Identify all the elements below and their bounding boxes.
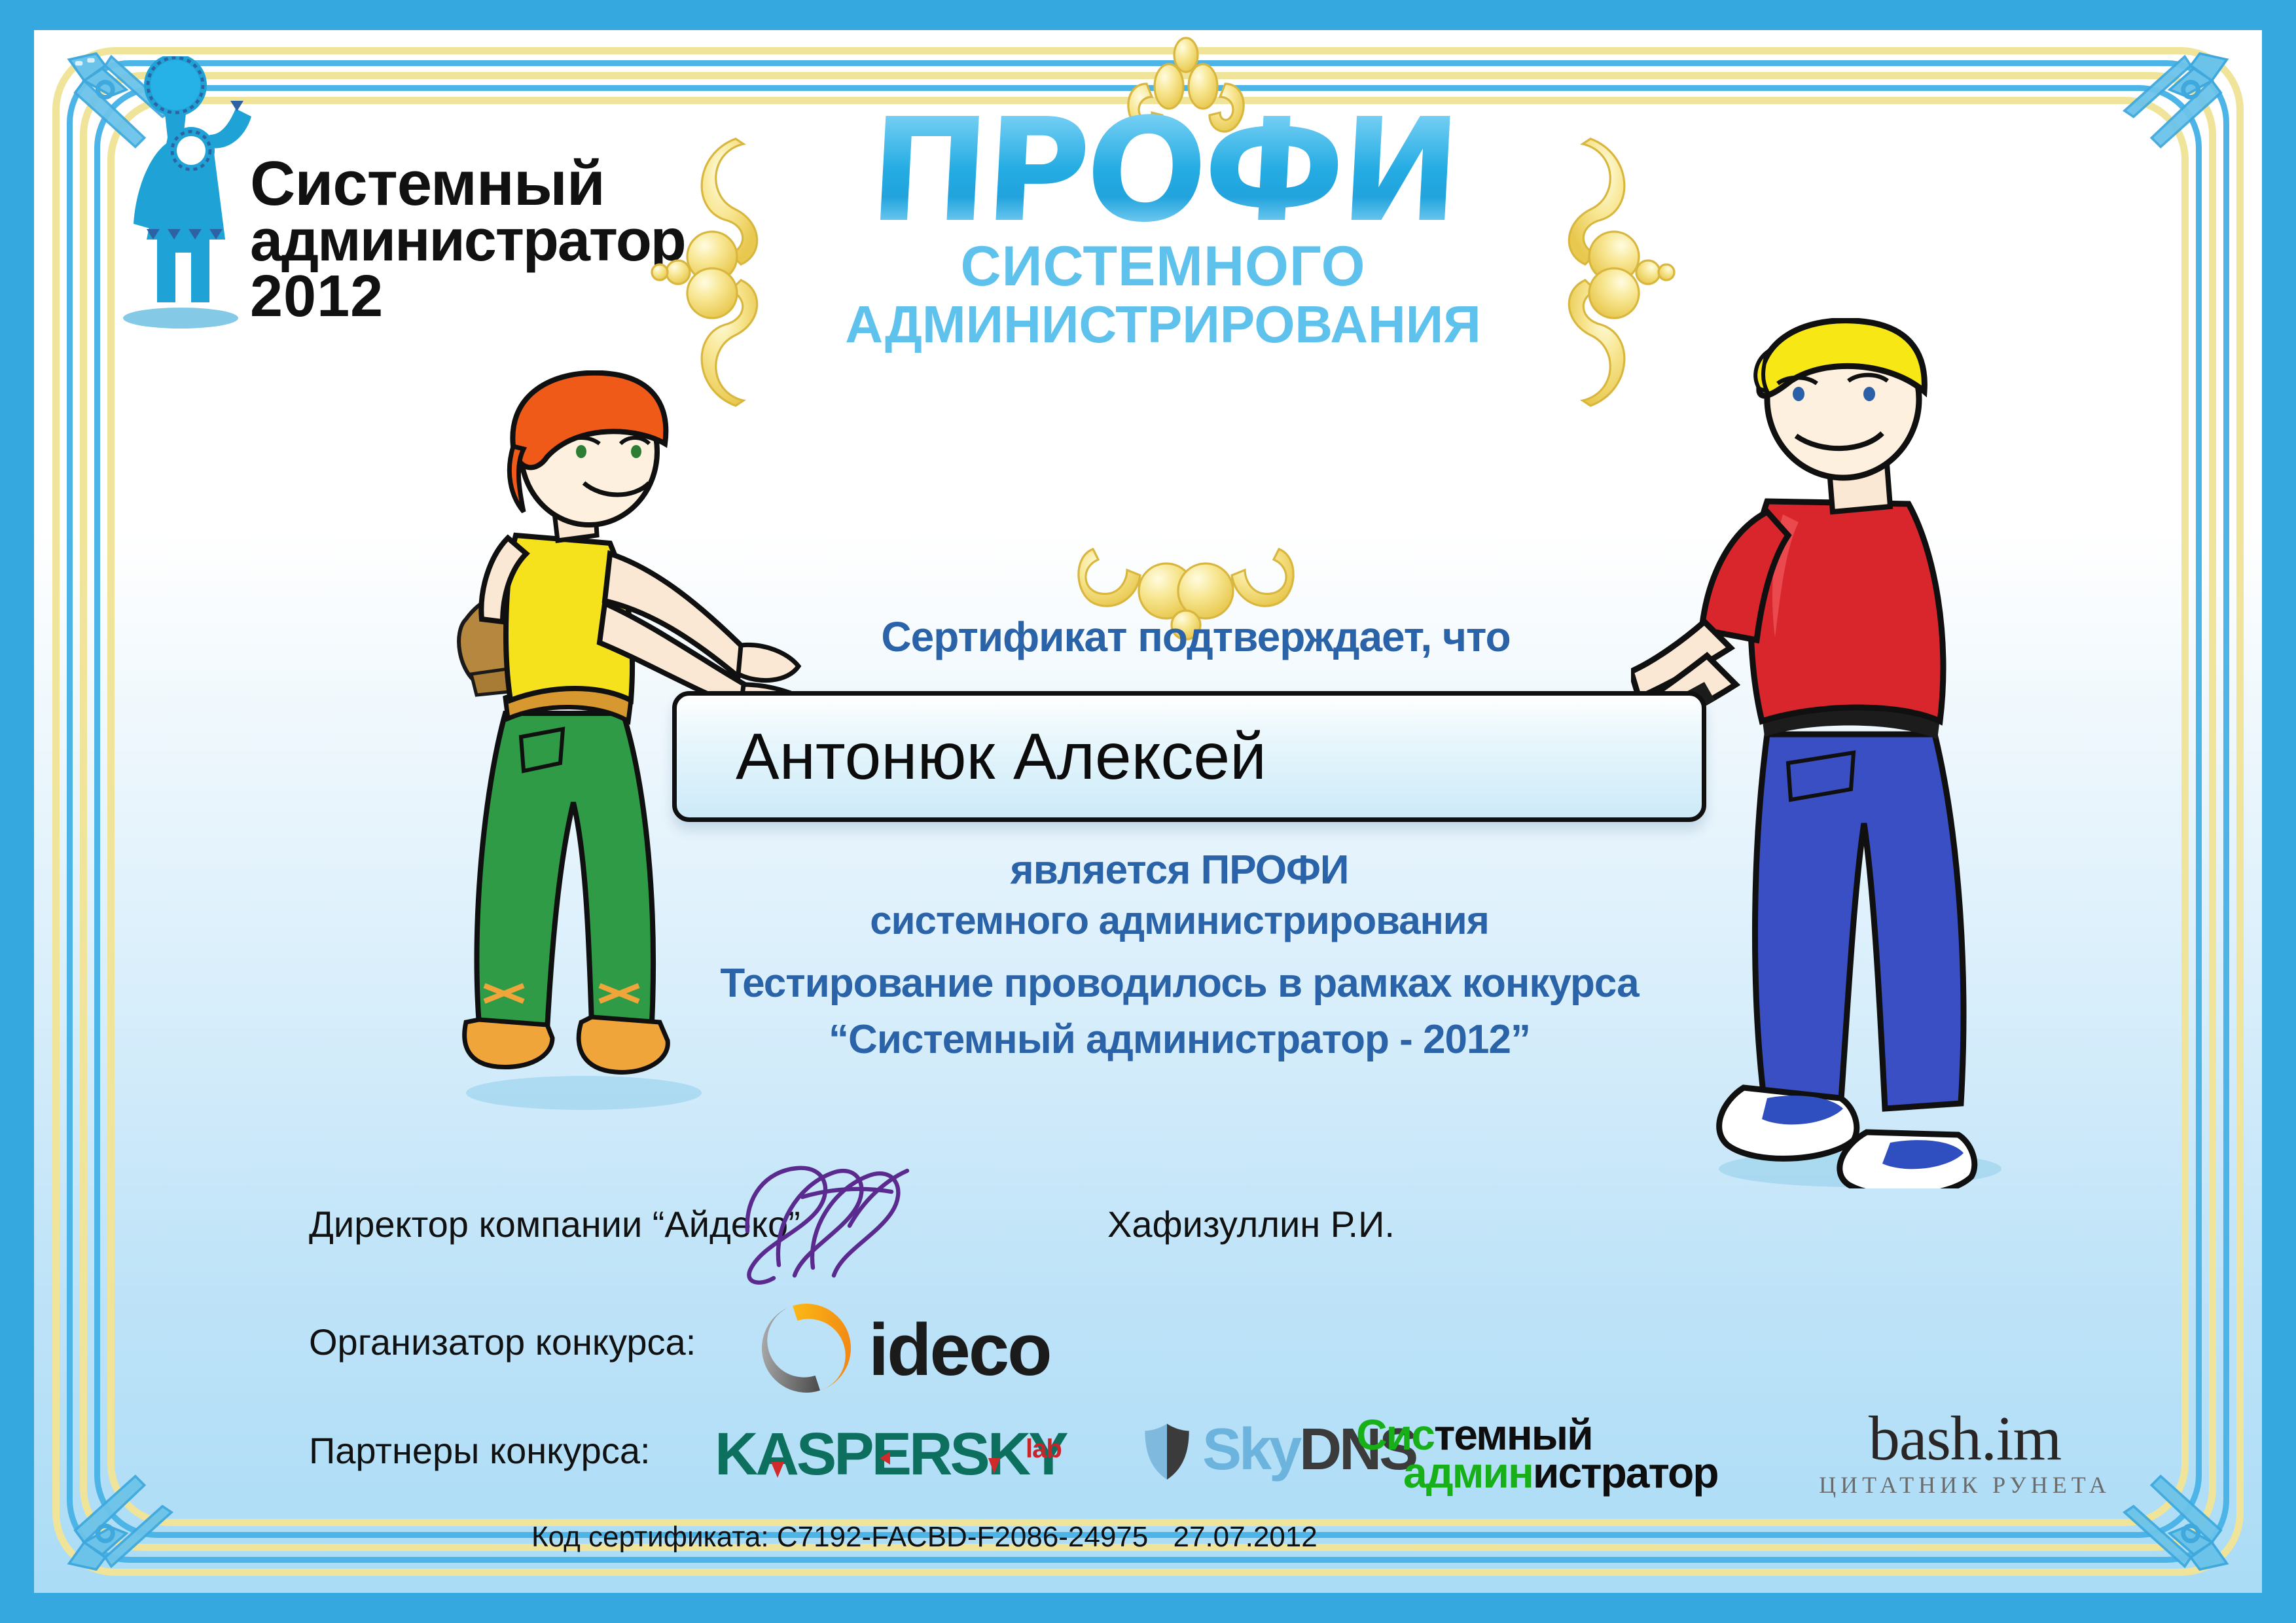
- signature-name: Хафизуллин Р.И.: [1107, 1203, 1395, 1245]
- pliers-corner-icon: [51, 1428, 202, 1578]
- ideco-logo: ideco: [754, 1296, 1094, 1400]
- eskimo-mascot-icon: [99, 56, 270, 331]
- sysadmin-line2-black: истратор: [1533, 1448, 1718, 1497]
- signature-row: Директор компании “Айдеко” Хафизуллин Р.…: [309, 1188, 1487, 1274]
- handwritten-signature-icon: [721, 1152, 931, 1290]
- body-line-1: является ПРОФИ: [623, 845, 1736, 896]
- skydns-sky-text: Sky: [1202, 1417, 1299, 1482]
- sysadmin-line2: администратор: [1403, 1448, 1718, 1497]
- skydns-shield-icon: [1140, 1420, 1194, 1486]
- certificate-card: Системный администратор 2012: [34, 30, 2262, 1593]
- pliers-corner-icon: [2094, 45, 2245, 195]
- sysadmin-line2-green: админ: [1403, 1448, 1533, 1497]
- partners-row: Партнеры конкурса: KASPERSKY lab SkyDNS: [309, 1411, 2076, 1509]
- partners-label: Партнеры конкурса:: [309, 1429, 651, 1472]
- certificate-code-line: Код сертификата: C7192-FACBD-F2086-24975…: [531, 1521, 1318, 1554]
- ideco-wordmark: ideco: [869, 1308, 1050, 1392]
- organizer-label: Организатор конкурса:: [309, 1321, 696, 1363]
- kaspersky-accent-icon: [715, 1418, 1029, 1489]
- event-logo-line1: Системный: [250, 154, 685, 213]
- bashim-tagline: ЦИТАТНИК РУНЕТА: [1795, 1471, 2135, 1499]
- body-line-2: системного администрирования: [623, 896, 1736, 945]
- event-logo: Системный администратор 2012: [99, 56, 649, 397]
- recipient-name: Антонюк Алексей: [677, 719, 1702, 794]
- bashim-wordmark: bash.im: [1795, 1407, 2135, 1470]
- recipient-name-plate: Антонюк Алексей: [672, 691, 1706, 822]
- event-logo-line3: 2012: [250, 269, 685, 325]
- ideco-ring-icon: [754, 1296, 859, 1400]
- certificate-page: Системный администратор 2012: [0, 0, 2296, 1623]
- profi-title: ПРОФИ: [718, 109, 1608, 234]
- bashim-logo-icon: bash.im ЦИТАТНИК РУНЕТА: [1795, 1407, 2135, 1505]
- body-line-3: Тестирование проводилось в рамках конкур…: [623, 954, 1736, 1013]
- code-label: Код сертификата:: [531, 1521, 769, 1553]
- sysadmin-magazine-logo-icon: Системный администратор: [1356, 1411, 1723, 1503]
- title-block: ПРОФИ СИСТЕМНОГО АДМИНИСТРИРОВАНИЯ: [721, 109, 1605, 351]
- body-line-4: “Системный администратор - 2012”: [623, 1012, 1736, 1067]
- kaspersky-lab-text: lab: [1026, 1435, 1062, 1464]
- organizer-row: Организатор конкурса: ideco: [309, 1300, 1094, 1398]
- event-logo-line2: администратор: [250, 213, 685, 269]
- body-text: является ПРОФИ системного администрирова…: [623, 845, 1736, 1067]
- certificate-date: 27.07.2012: [1174, 1521, 1318, 1553]
- kaspersky-logo-icon: KASPERSKY lab: [715, 1418, 1088, 1489]
- code-value: C7192-FACBD-F2086-24975: [777, 1521, 1148, 1553]
- title-sub2: АДМИНИСТРИРОВАНИЯ: [721, 298, 1605, 351]
- confirm-line: Сертификат подтверждает, что: [689, 613, 1703, 661]
